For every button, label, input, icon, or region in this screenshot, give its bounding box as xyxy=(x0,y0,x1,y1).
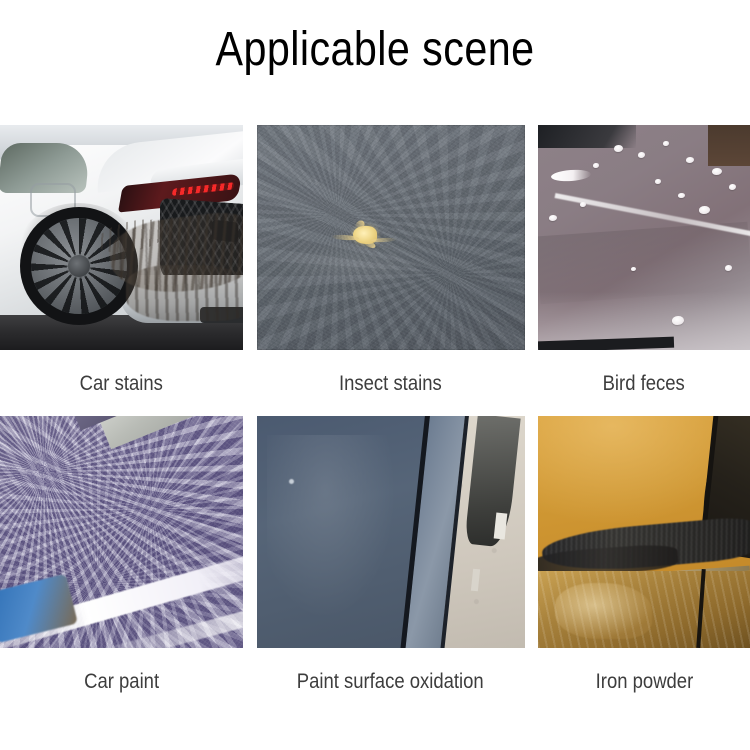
scene-cell-iron-powder[interactable]: Iron powder xyxy=(538,416,750,714)
iron-powder-image[interactable] xyxy=(538,416,750,648)
oxidation-speck xyxy=(289,479,294,484)
scene-grid-row: Car paint Paint surface oxidation xyxy=(0,416,750,714)
scene-cell-car-paint[interactable]: Car paint xyxy=(0,416,243,714)
scene-grid: Car stains Insect stains xyxy=(0,125,750,714)
caption-paint-surface-oxidation: Paint surface oxidation xyxy=(297,648,484,714)
insect-splat xyxy=(331,219,397,251)
dropping-spot xyxy=(729,184,736,190)
scene-cell-paint-surface-oxidation[interactable]: Paint surface oxidation xyxy=(257,416,525,714)
headlight-lens xyxy=(555,583,653,639)
dropping-spot xyxy=(699,206,710,214)
car-stains-image[interactable] xyxy=(0,125,243,350)
dropping-spot xyxy=(549,215,557,221)
caption-iron-powder: Iron powder xyxy=(595,648,693,714)
dropping-spot xyxy=(725,265,732,271)
insect-stains-image[interactable] xyxy=(257,125,525,350)
caption-car-paint: Car paint xyxy=(84,648,159,714)
applicable-scene-page: Applicable scene xyxy=(0,0,750,750)
scene-grid-row: Car stains Insect stains xyxy=(0,125,750,416)
scene-cell-bird-feces[interactable]: Bird feces xyxy=(538,125,750,416)
dropping-smear xyxy=(550,169,591,183)
background-wall xyxy=(708,125,750,166)
scene-cell-insect-stains[interactable]: Insect stains xyxy=(257,125,525,416)
dropping-spot xyxy=(655,179,661,184)
car-paint-image[interactable] xyxy=(0,416,243,648)
caption-bird-feces: Bird feces xyxy=(603,350,685,416)
dropping-spot xyxy=(678,193,685,198)
dropping-spot xyxy=(712,168,722,175)
page-title: Applicable scene xyxy=(53,24,698,77)
windshield-edge xyxy=(538,125,636,148)
bird-feces-image[interactable] xyxy=(538,125,750,350)
dropping-spot xyxy=(663,141,669,146)
panel-sheen xyxy=(267,435,396,621)
caption-insect-stains: Insect stains xyxy=(339,350,442,416)
dropping-spot xyxy=(580,202,586,207)
scene-cell-car-stains[interactable]: Car stains xyxy=(0,125,243,416)
dropping-spot xyxy=(686,157,694,163)
dropping-spot xyxy=(638,152,645,158)
wheel-hub xyxy=(68,255,90,277)
paint-surface-oxidation-image[interactable] xyxy=(257,416,525,648)
dropping-spot xyxy=(614,145,623,152)
mud-stain-lower xyxy=(126,265,243,321)
caption-car-stains: Car stains xyxy=(80,350,163,416)
dropping-spot xyxy=(593,163,599,168)
